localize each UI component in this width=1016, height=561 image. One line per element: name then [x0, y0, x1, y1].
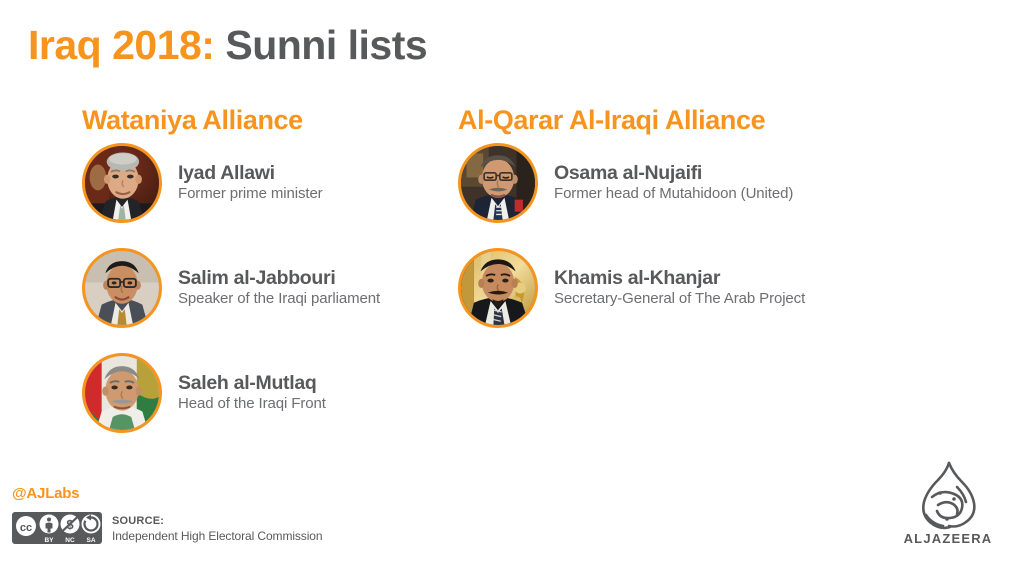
alliance-heading: Al-Qarar Al-Iraqi Alliance [458, 105, 928, 136]
person-text: Salim al-Jabbouri Speaker of the Iraqi p… [178, 267, 380, 309]
source-block: SOURCE: Independent High Electoral Commi… [112, 512, 322, 544]
person-role: Secretary-General of The Arab Project [554, 290, 805, 309]
person-text: Saleh al-Mutlaq Head of the Iraqi Front [178, 372, 326, 414]
portrait-khamis-al-khanjar [458, 248, 538, 328]
page-title-accent: Iraq 2018: [28, 22, 214, 68]
person-name: Khamis al-Khanjar [554, 267, 805, 290]
portrait-salim-al-jabbouri [82, 248, 162, 328]
source-label: SOURCE: [112, 515, 322, 529]
portrait-iyad-allawi [82, 143, 162, 223]
creative-commons-license-icon: cc BY $ NC SA [12, 512, 102, 544]
alliance-column-al-qarar: Al-Qarar Al-Iraqi Alliance [458, 105, 928, 353]
source-value: Independent High Electoral Commission [112, 529, 322, 544]
person-text: Iyad Allawi Former prime minister [178, 162, 323, 204]
person-name: Iyad Allawi [178, 162, 323, 185]
al-jazeera-flame-icon: ALJAZEERA [902, 457, 994, 549]
svg-text:cc: cc [20, 522, 32, 534]
person-name: Osama al-Nujaifi [554, 162, 793, 185]
page-title: Iraq 2018: Sunni lists [28, 22, 427, 69]
alliance-column-wataniya: Wataniya Alliance [82, 105, 452, 458]
svg-text:SA: SA [86, 537, 95, 544]
person-name: Salim al-Jabbouri [178, 267, 380, 290]
svg-text:BY: BY [44, 537, 54, 544]
page-title-rest: Sunni lists [225, 22, 427, 68]
al-jazeera-wordmark: ALJAZEERA [904, 531, 993, 546]
person-role: Former prime minister [178, 185, 323, 204]
person-role: Head of the Iraqi Front [178, 395, 326, 414]
person-name: Saleh al-Mutlaq [178, 372, 326, 395]
person-text: Osama al-Nujaifi Former head of Mutahido… [554, 162, 793, 204]
aj-labs-handle: @AJLabs [12, 485, 79, 502]
list-item: Khamis al-Khanjar Secretary-General of T… [458, 248, 928, 328]
list-item: Osama al-Nujaifi Former head of Mutahido… [458, 143, 928, 223]
alliance-heading: Wataniya Alliance [82, 105, 452, 136]
person-role: Speaker of the Iraqi parliament [178, 290, 380, 309]
portrait-osama-al-nujaifi [458, 143, 538, 223]
person-role: Former head of Mutahidoon (United) [554, 185, 793, 204]
person-list: Iyad Allawi Former prime minister [82, 143, 452, 433]
list-item: Saleh al-Mutlaq Head of the Iraqi Front [82, 353, 452, 433]
footer: cc BY $ NC SA SOURCE: Independent High E… [12, 512, 322, 544]
person-text: Khamis al-Khanjar Secretary-General of T… [554, 267, 805, 309]
list-item: Iyad Allawi Former prime minister [82, 143, 452, 223]
svg-text:NC: NC [65, 537, 75, 544]
al-jazeera-logo: ALJAZEERA [902, 457, 994, 549]
portrait-saleh-al-mutlaq [82, 353, 162, 433]
list-item: Salim al-Jabbouri Speaker of the Iraqi p… [82, 248, 452, 328]
person-list: Osama al-Nujaifi Former head of Mutahido… [458, 143, 928, 328]
